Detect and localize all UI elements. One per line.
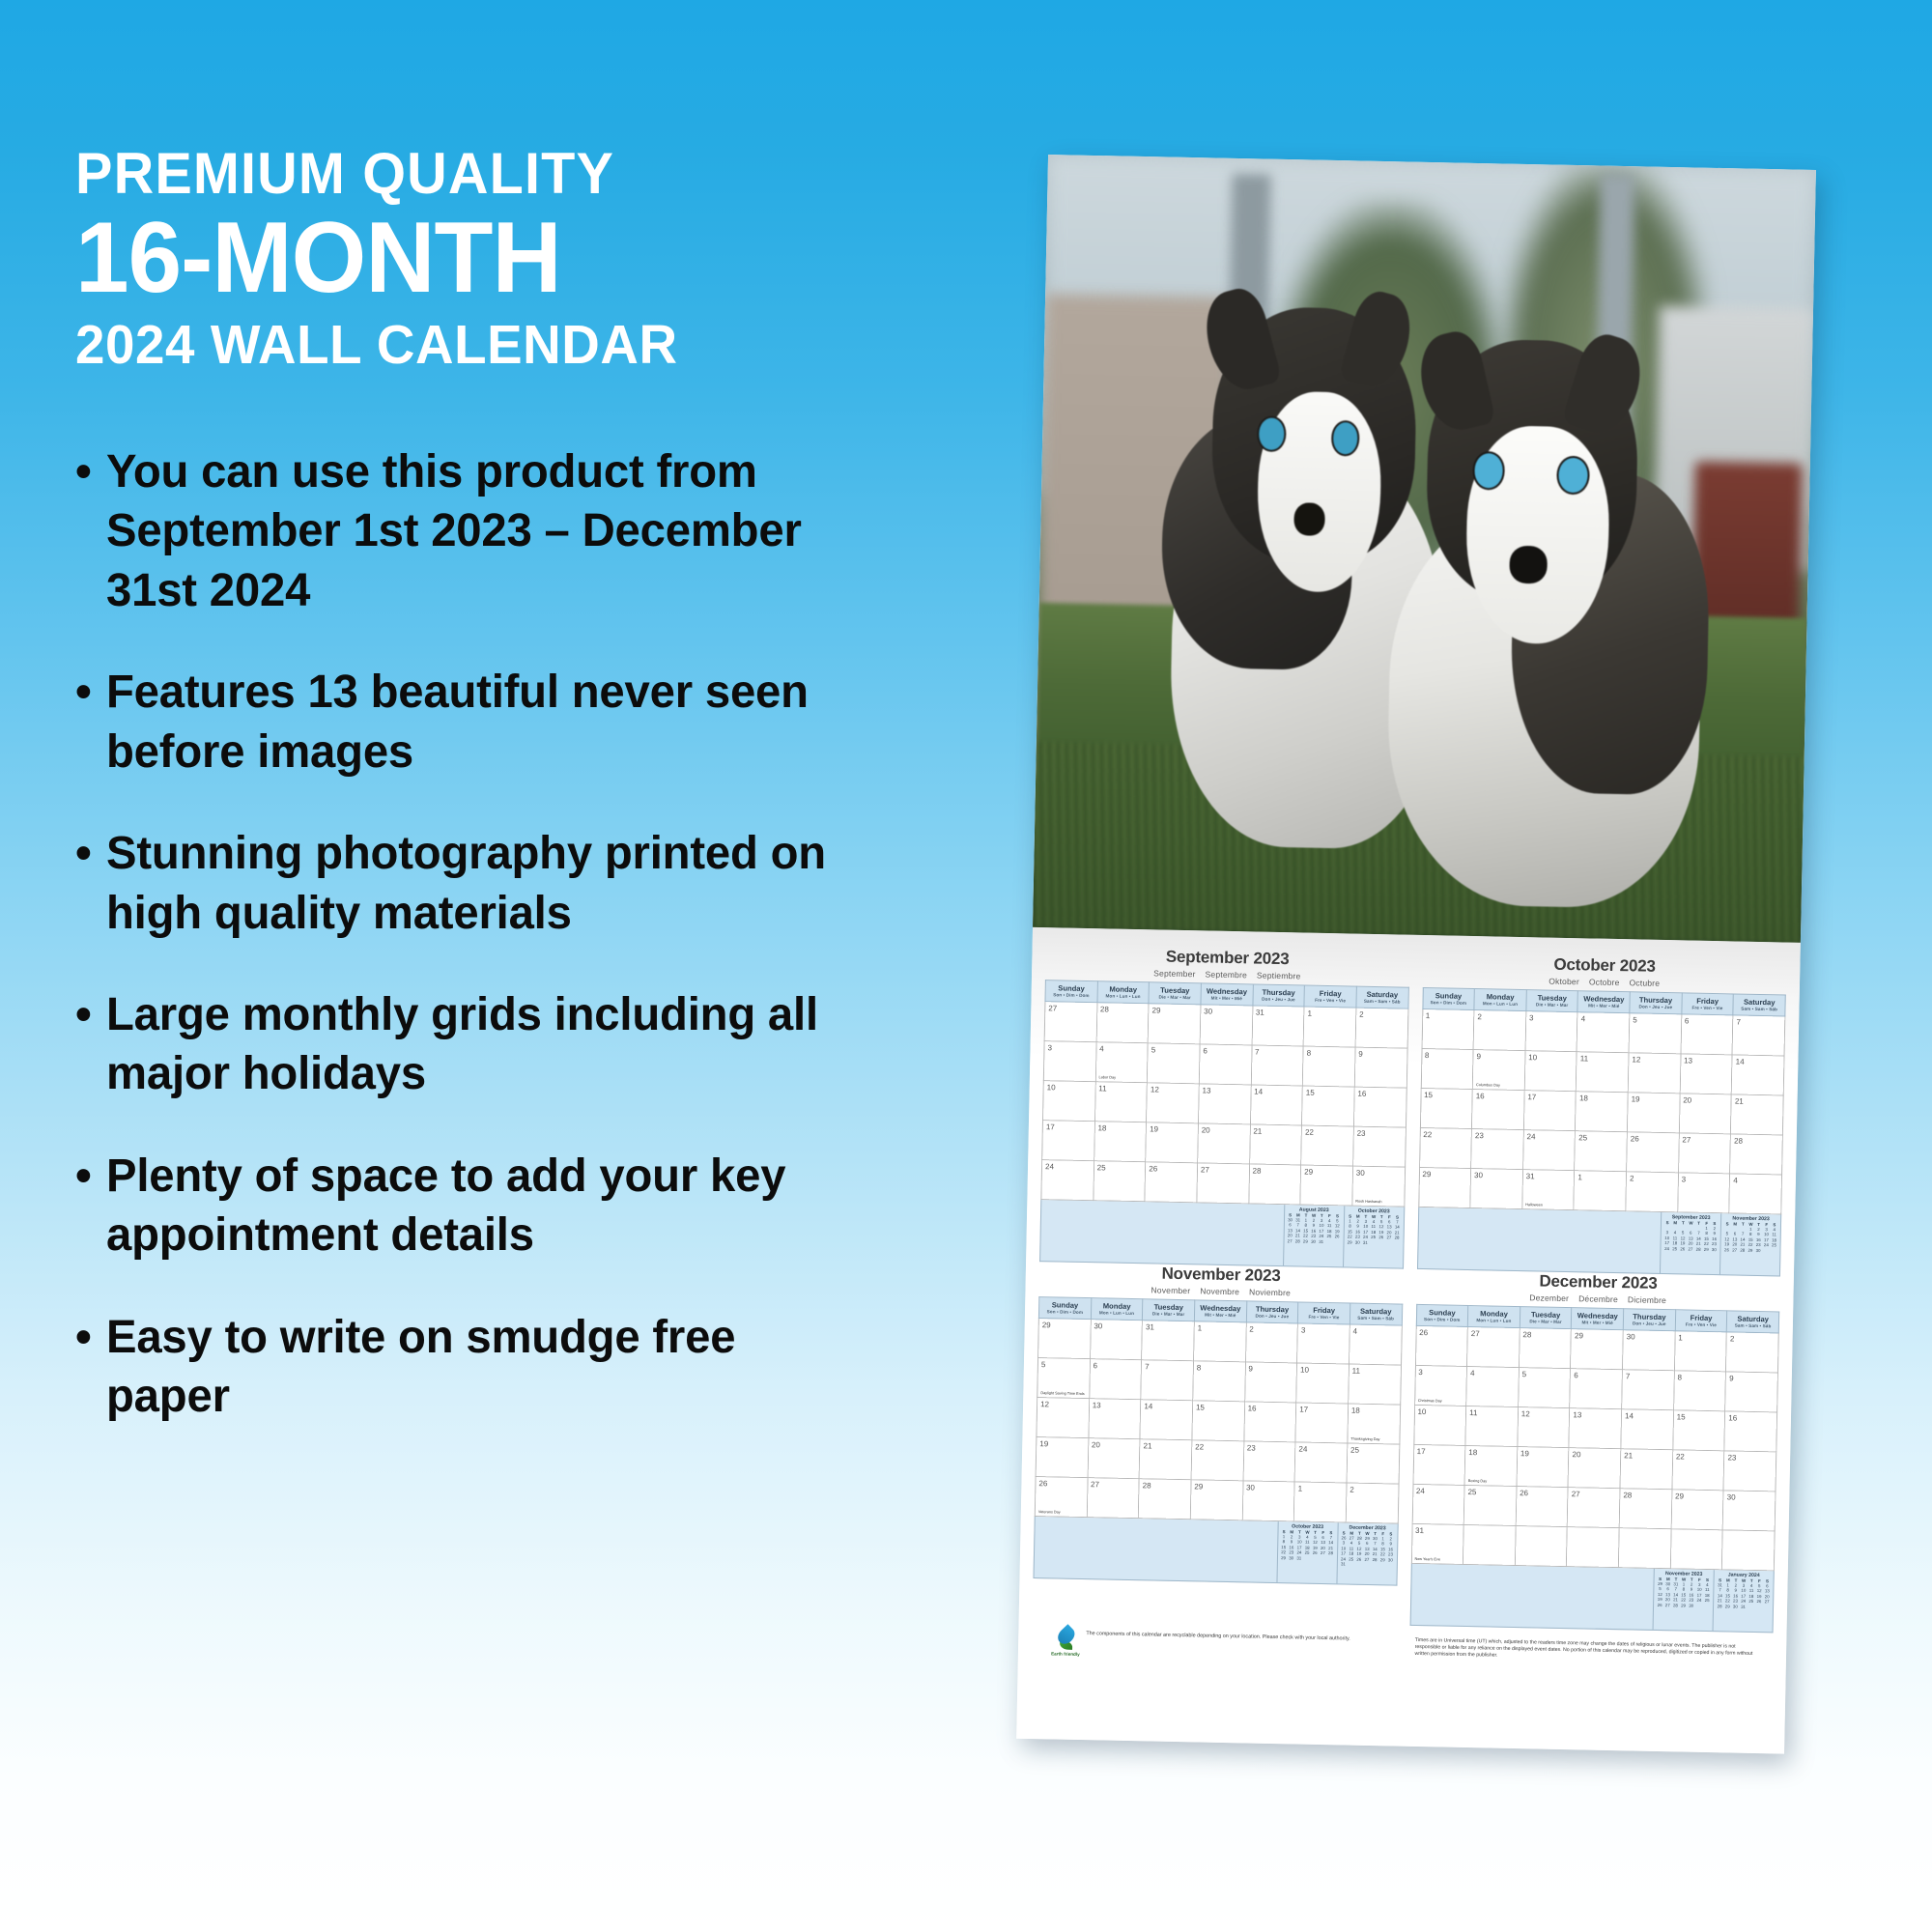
day-header-saturday: SaturdaySam • Sam • Sáb <box>1727 1311 1779 1333</box>
mini-day: 28 <box>1694 1246 1702 1252</box>
mini-day: 30 <box>1309 1238 1317 1244</box>
month-block: September 2023SeptemberSeptembreSeptiemb… <box>1039 945 1409 1268</box>
week-row: 31New Year's Eve <box>1411 1523 1775 1571</box>
mini-calendars: August 2023SMTWTFS3031123456789101112131… <box>1283 1205 1404 1267</box>
mini-day: 30 <box>1731 1604 1739 1609</box>
day-cell[interactable]: 28 <box>1519 1328 1571 1369</box>
footer-recycling-note: Earth friendly The components of this ca… <box>1045 1618 1396 1663</box>
holiday-label: New Year's Eve <box>1414 1557 1440 1562</box>
day-cell[interactable]: 24 <box>1522 1130 1575 1171</box>
day-cell[interactable]: 12 <box>1147 1083 1199 1123</box>
day-cell[interactable]: 6 <box>1570 1369 1622 1409</box>
day-cell[interactable]: 20 <box>1088 1438 1140 1479</box>
notes-bar[interactable]: August 2023SMTWTFS3031123456789101112131… <box>1039 1200 1405 1269</box>
mini-day <box>1695 1604 1703 1609</box>
day-cell[interactable]: 10 <box>1043 1081 1095 1122</box>
day-cell[interactable]: 4 <box>1729 1174 1781 1214</box>
day-cell[interactable]: 17 <box>1042 1121 1094 1161</box>
day-cell[interactable]: 18Boxing Day <box>1464 1445 1517 1486</box>
day-cell[interactable]: 14 <box>1732 1055 1784 1095</box>
day-cell[interactable]: 16 <box>1724 1411 1776 1452</box>
mini-day <box>1378 1240 1385 1246</box>
day-cell[interactable]: 27 <box>1197 1163 1249 1204</box>
day-header-tuesday: TuesdayDie • Mar • Mar <box>1526 990 1578 1012</box>
feature-item: •Features 13 beautiful never seen before… <box>75 663 877 781</box>
day-cell[interactable]: 9 <box>1244 1362 1296 1403</box>
day-cell[interactable]: 1 <box>1303 1007 1355 1047</box>
day-header-monday: MondayMon • Lun • Lun <box>1097 981 1150 1004</box>
day-cell[interactable]: 8 <box>1421 1048 1473 1089</box>
day-header-saturday: SaturdaySam • Sam • Sáb <box>1733 994 1785 1016</box>
day-cell[interactable]: 22 <box>1672 1450 1724 1491</box>
day-cell[interactable]: 18 <box>1094 1122 1146 1162</box>
feature-item: •Easy to write on smudge free paper <box>75 1308 877 1427</box>
mini-day <box>1386 1563 1394 1569</box>
day-header-tuesday: TuesdayDie • Mar • Mar <box>1520 1307 1572 1329</box>
day-cell[interactable]: 9Columbus Day <box>1472 1050 1524 1091</box>
mini-day: 28 <box>1716 1604 1723 1609</box>
day-cell[interactable]: 27 <box>1087 1478 1139 1519</box>
holiday-label: Columbus Day <box>1476 1083 1500 1088</box>
mini-day: 31 <box>1318 1239 1325 1245</box>
day-cell[interactable]: 30Rosh Hashanah <box>1352 1166 1405 1207</box>
day-cell[interactable]: 1 <box>1193 1321 1245 1362</box>
week-row: 24252627282930Rosh Hashanah <box>1041 1160 1405 1207</box>
calendar-sheet: September 2023SeptemberSeptembreSeptiemb… <box>1016 155 1816 1754</box>
day-cell[interactable]: 19 <box>1036 1437 1088 1478</box>
day-header-abbr: Sam • Sam • Sáb <box>1350 1315 1402 1321</box>
day-cell[interactable]: 19 <box>1146 1122 1198 1163</box>
mini-day: 26 <box>1656 1603 1663 1608</box>
feature-item-label: You can use this product from September … <box>106 442 866 620</box>
mini-day: 28 <box>1293 1238 1301 1244</box>
month-grid: SundaySon • Dim • DomMondayMon • Lun • L… <box>1410 1304 1779 1572</box>
bullet-marker-icon: • <box>75 1147 106 1265</box>
day-cell[interactable] <box>1463 1524 1516 1565</box>
feature-item-label: Plenty of space to add your key appointm… <box>106 1147 866 1265</box>
day-cell[interactable]: 27 <box>1044 1002 1096 1042</box>
day-header-abbr: Fre • Ven • Vie <box>1298 1314 1350 1320</box>
day-cell[interactable] <box>1567 1527 1619 1568</box>
day-header-monday: MondayMon • Lun • Lun <box>1467 1305 1520 1327</box>
day-cell[interactable]: 3 <box>1677 1173 1729 1213</box>
day-header-abbr: Die • Mar • Mar <box>1143 1311 1194 1317</box>
day-cell[interactable]: 24 <box>1294 1442 1347 1483</box>
month-lang: Novembre <box>1200 1286 1239 1296</box>
day-cell[interactable]: 27 <box>1568 1488 1620 1528</box>
day-cell[interactable]: 13 <box>1680 1054 1732 1094</box>
day-header-sunday: SundaySon • Dim • Dom <box>1422 987 1474 1009</box>
notes-bar[interactable]: September 2023SMTWTFS1234567891011121314… <box>1416 1207 1781 1277</box>
day-cell[interactable]: 7 <box>1141 1360 1193 1401</box>
day-cell[interactable]: 11 <box>1465 1406 1518 1446</box>
day-cell[interactable]: 9 <box>1725 1372 1777 1412</box>
mini-day: 26 <box>1679 1246 1687 1252</box>
mini-day: 29 <box>1747 1248 1754 1254</box>
calendar-photo-husky-puppies <box>1033 155 1816 943</box>
month-lang: Décembre <box>1578 1293 1618 1304</box>
day-cell[interactable]: 25 <box>1463 1485 1516 1525</box>
day-cell[interactable]: 21 <box>1620 1449 1672 1490</box>
day-header-wednesday: WednesdayMit • Mer • Mié <box>1577 991 1630 1013</box>
month-lang: September <box>1153 968 1196 979</box>
notes-writing-area[interactable] <box>1410 1564 1654 1630</box>
day-header-thursday: ThursdayDon • Jeu • Jue <box>1246 1301 1298 1323</box>
feature-item-label: Easy to write on smudge free paper <box>106 1308 866 1427</box>
day-cell[interactable]: 30 <box>1623 1330 1675 1371</box>
day-header-monday: MondayMon • Lun • Lun <box>1474 989 1526 1011</box>
day-cell[interactable]: 27 <box>1467 1326 1520 1367</box>
eco-label: Earth friendly <box>1051 1651 1080 1657</box>
day-cell[interactable]: 25 <box>1094 1161 1146 1202</box>
day-header-abbr: Die • Mar • Mar <box>1150 994 1201 1000</box>
notes-bar[interactable]: October 2023SMTWTFS123456789101112131415… <box>1033 1517 1398 1586</box>
day-cell[interactable]: 23 <box>1471 1129 1523 1170</box>
footer-right-text: Times are in Universal time (UT) which, … <box>1414 1634 1753 1670</box>
month-grid: SundaySon • Dim • DomMondayMon • Lun • L… <box>1418 987 1786 1215</box>
mini-day: 31 <box>1361 1240 1369 1246</box>
day-cell[interactable]: 20 <box>1568 1448 1620 1489</box>
day-header-saturday: SaturdaySam • Sam • Sáb <box>1356 986 1408 1009</box>
day-header-sunday: SundaySon • Dim • Dom <box>1045 980 1097 1003</box>
day-cell[interactable]: 26 <box>1145 1162 1197 1203</box>
day-cell[interactable]: 14 <box>1621 1409 1673 1450</box>
day-header-abbr: Don • Jeu • Jue <box>1247 1313 1298 1319</box>
day-cell[interactable]: 26 <box>1516 1487 1568 1527</box>
day-header-abbr: Mon • Lun • Lun <box>1092 1310 1143 1316</box>
day-cell[interactable]: 16 <box>1353 1087 1406 1127</box>
day-cell[interactable]: 15 <box>1192 1401 1244 1441</box>
month-lang: November <box>1151 1285 1190 1295</box>
feature-item: •You can use this product from September… <box>75 442 877 620</box>
day-cell[interactable]: 11 <box>1349 1364 1401 1405</box>
mini-day: 27 <box>1731 1247 1739 1253</box>
calendar-grid-page: September 2023SeptemberSeptembreSeptiemb… <box>1016 927 1801 1754</box>
mini-day <box>1378 1562 1386 1568</box>
day-header-abbr: Son • Dim • Dom <box>1039 1309 1091 1315</box>
day-cell[interactable]: 3 <box>1525 1011 1577 1052</box>
page-title: 16-MONTH <box>75 207 845 309</box>
mini-calendars: November 2023SMTWTFS29303112345678910111… <box>1653 1569 1774 1632</box>
day-cell[interactable]: 31 <box>1252 1006 1304 1046</box>
earth-friendly-icon: Earth friendly <box>1051 1626 1081 1657</box>
day-cell[interactable]: 17 <box>1523 1091 1576 1131</box>
notes-writing-area[interactable] <box>1035 1517 1278 1582</box>
holiday-label: Thanksgiving Day <box>1350 1436 1379 1441</box>
day-cell[interactable]: 6 <box>1199 1044 1251 1085</box>
day-cell[interactable]: 28 <box>1139 1479 1191 1520</box>
mini-day: 29 <box>1301 1238 1309 1244</box>
day-cell[interactable]: 29 <box>1190 1480 1242 1520</box>
bullet-marker-icon: • <box>75 442 106 620</box>
footer-left-text: The components of this calendar are recy… <box>1086 1627 1350 1662</box>
day-cell[interactable] <box>1618 1528 1670 1569</box>
mini-calendar: December 2023SMTWTFS26272829301234567891… <box>1336 1522 1397 1584</box>
mini-day: 30 <box>1710 1247 1718 1253</box>
notes-writing-area[interactable] <box>1418 1207 1662 1273</box>
day-cell[interactable]: 29 <box>1148 1004 1200 1044</box>
day-cell[interactable]: 20 <box>1679 1094 1731 1134</box>
day-cell[interactable]: 31Halloween <box>1522 1170 1575 1210</box>
day-header-wednesday: WednesdayMit • Mer • Mié <box>1201 983 1253 1006</box>
day-cell[interactable]: 11 <box>1094 1082 1147 1122</box>
day-cell[interactable]: 29 <box>1300 1165 1352 1206</box>
day-cell[interactable]: 9 <box>1354 1047 1406 1088</box>
mini-day: 29 <box>1346 1239 1353 1245</box>
day-cell[interactable]: 3 <box>1043 1041 1095 1082</box>
day-header-wednesday: WednesdayMit • Mer • Mié <box>1194 1300 1246 1322</box>
mini-day <box>1770 1248 1777 1254</box>
mini-day: 25 <box>1671 1246 1679 1252</box>
day-cell[interactable]: 24 <box>1041 1160 1094 1201</box>
mini-day <box>1333 1239 1341 1245</box>
mini-day: 28 <box>1671 1603 1679 1608</box>
day-cell[interactable]: 7 <box>1732 1015 1784 1056</box>
day-cell[interactable]: 19 <box>1627 1093 1679 1133</box>
day-cell[interactable]: 6 <box>1089 1359 1141 1400</box>
day-cell[interactable]: 2 <box>1726 1332 1778 1373</box>
week-row: 293031Halloween1234 <box>1418 1167 1781 1214</box>
month-lang: Dezember <box>1529 1293 1569 1303</box>
day-cell[interactable]: 21 <box>1731 1094 1783 1135</box>
day-cell[interactable]: 6 <box>1681 1014 1733 1055</box>
day-cell[interactable]: 12 <box>1518 1407 1570 1448</box>
month-block: November 2023NovemberNovembreNoviembreSu… <box>1033 1262 1404 1625</box>
day-cell[interactable]: 4 <box>1466 1366 1519 1406</box>
day-cell[interactable]: 14 <box>1140 1400 1192 1440</box>
day-cell[interactable]: 23 <box>1243 1441 1295 1482</box>
notes-bar[interactable]: November 2023SMTWTFS29303112345678910111… <box>1409 1564 1775 1634</box>
day-cell[interactable]: 26 <box>1415 1325 1467 1366</box>
mini-day: 24 <box>1662 1246 1670 1252</box>
day-cell[interactable]: 29 <box>1418 1167 1470 1207</box>
day-cell[interactable]: 21 <box>1249 1124 1301 1165</box>
day-cell[interactable]: 22 <box>1419 1127 1471 1168</box>
puppy-right <box>1371 331 1720 910</box>
day-header-abbr: Mon • Lun • Lun <box>1097 993 1149 999</box>
day-header-thursday: ThursdayDon • Jeu • Jue <box>1623 1309 1675 1331</box>
day-cell[interactable]: 21 <box>1139 1439 1191 1480</box>
day-cell[interactable]: 29 <box>1571 1329 1623 1370</box>
day-cell[interactable]: 11 <box>1577 1052 1629 1093</box>
mini-day <box>1385 1240 1393 1246</box>
day-cell[interactable]: 4Labor Day <box>1095 1042 1148 1083</box>
mini-day: 31 <box>1339 1562 1347 1568</box>
day-cell[interactable]: 1 <box>1574 1171 1626 1211</box>
day-cell[interactable] <box>1722 1530 1775 1571</box>
day-header-sunday: SundaySon • Dim • Dom <box>1416 1304 1468 1326</box>
month-lang: Diciembre <box>1628 1294 1666 1305</box>
day-header-abbr: Don • Jeu • Jue <box>1253 996 1304 1002</box>
day-cell[interactable]: 7 <box>1251 1045 1303 1086</box>
day-cell[interactable]: 25 <box>1347 1443 1399 1484</box>
mini-calendars: October 2023SMTWTFS123456789101112131415… <box>1276 1521 1397 1584</box>
day-cell[interactable]: 2 <box>1245 1322 1297 1363</box>
day-cell[interactable]: 28 <box>1248 1164 1300 1205</box>
holiday-label: Rosh Hashanah <box>1355 1199 1381 1204</box>
day-cell[interactable]: 25 <box>1575 1131 1627 1172</box>
day-cell[interactable]: 10 <box>1296 1363 1349 1404</box>
day-header-abbr: Die • Mar • Mar <box>1526 1002 1577 1008</box>
day-header-thursday: ThursdayDon • Jeu • Jue <box>1253 984 1305 1007</box>
day-cell[interactable]: 30 <box>1470 1169 1522 1209</box>
day-cell[interactable]: 18 <box>1576 1092 1628 1132</box>
feature-item: •Stunning photography printed on high qu… <box>75 824 877 943</box>
day-cell[interactable]: 1 <box>1674 1331 1726 1372</box>
bullet-marker-icon: • <box>75 1308 106 1427</box>
month-lang: Septiembre <box>1257 971 1301 981</box>
day-header-abbr: Fre • Ven • Vie <box>1676 1321 1727 1327</box>
day-cell[interactable]: 26 <box>1627 1132 1679 1173</box>
day-cell[interactable]: 5 <box>1629 1013 1681 1054</box>
day-cell[interactable]: 29 <box>1038 1319 1091 1359</box>
day-cell[interactable]: 4 <box>1577 1012 1629 1053</box>
day-cell[interactable]: 22 <box>1301 1125 1353 1166</box>
day-cell[interactable]: 31New Year's Eve <box>1411 1523 1463 1564</box>
day-header-tuesday: TuesdayDie • Mar • Mar <box>1143 1299 1195 1321</box>
day-cell[interactable]: 1 <box>1293 1482 1346 1522</box>
day-header-abbr: Sam • Sam • Sáb <box>1734 1006 1785 1011</box>
day-cell[interactable]: 16 <box>1243 1402 1295 1442</box>
day-header-abbr: Sam • Sam • Sáb <box>1727 1322 1778 1328</box>
mini-calendar: October 2023SMTWTFS123456789101112131415… <box>1343 1206 1404 1267</box>
day-cell[interactable]: 30 <box>1090 1320 1142 1360</box>
day-cell[interactable]: 10 <box>1524 1051 1577 1092</box>
day-cell[interactable]: 17 <box>1295 1403 1348 1443</box>
day-cell[interactable]: 29 <box>1671 1490 1723 1530</box>
month-grid: SundaySon • Dim • DomMondayMon • Lun • L… <box>1035 1296 1403 1524</box>
day-cell[interactable]: 15 <box>1673 1410 1725 1451</box>
day-cell[interactable]: 18Thanksgiving Day <box>1348 1404 1400 1444</box>
day-header-abbr: Mon • Lun • Lun <box>1475 1001 1526 1007</box>
mini-day <box>1763 1605 1771 1610</box>
day-cell[interactable]: 20 <box>1198 1123 1250 1164</box>
day-cell[interactable]: 30 <box>1722 1491 1775 1531</box>
day-header-saturday: SaturdaySam • Sam • Sáb <box>1350 1303 1402 1325</box>
day-cell[interactable]: 5 <box>1148 1043 1200 1084</box>
mini-day: 29 <box>1679 1603 1687 1608</box>
day-cell[interactable]: 12 <box>1628 1053 1680 1094</box>
kicker-text: PREMIUM QUALITY <box>75 145 845 203</box>
day-cell[interactable]: 2 <box>1346 1483 1398 1523</box>
mini-day: 27 <box>1286 1238 1293 1244</box>
notes-writing-area[interactable] <box>1040 1200 1284 1265</box>
mini-day: 31 <box>1295 1555 1303 1561</box>
mini-day <box>1363 1562 1371 1568</box>
day-cell[interactable]: 30 <box>1242 1481 1294 1521</box>
day-cell[interactable] <box>1670 1529 1722 1570</box>
day-cell[interactable]: 7 <box>1622 1370 1674 1410</box>
day-cell[interactable]: 15 <box>1420 1088 1472 1128</box>
month-lang: Octubre <box>1629 978 1660 988</box>
day-cell[interactable]: 13 <box>1198 1084 1250 1124</box>
day-header-thursday: ThursdayDon • Jeu • Jue <box>1630 992 1682 1014</box>
day-cell[interactable]: 14 <box>1250 1085 1302 1125</box>
day-cell[interactable]: 2 <box>1626 1172 1678 1212</box>
day-cell[interactable]: 3Christmas Day <box>1414 1365 1466 1406</box>
page-subtitle: 2024 WALL CALENDAR <box>75 317 845 375</box>
day-cell[interactable]: 22 <box>1191 1440 1243 1481</box>
day-cell[interactable]: 26Veterans Day <box>1035 1477 1087 1518</box>
mini-day: 30 <box>1754 1248 1762 1254</box>
day-cell[interactable]: 16 <box>1472 1090 1524 1130</box>
mini-day: 29 <box>1279 1555 1287 1561</box>
day-cell[interactable]: 19 <box>1517 1447 1569 1488</box>
mini-calendar: November 2023SMTWTFS12345678910111213141… <box>1719 1213 1780 1275</box>
day-cell[interactable]: 17 <box>1413 1444 1465 1485</box>
mini-day <box>1326 1556 1334 1562</box>
month-lang: Noviembre <box>1249 1287 1291 1297</box>
mini-day <box>1311 1556 1319 1562</box>
day-cell[interactable]: 12 <box>1037 1398 1089 1438</box>
day-cell[interactable]: 2 <box>1473 1010 1525 1051</box>
day-header-tuesday: TuesdayDie • Mar • Mar <box>1149 982 1201 1005</box>
day-cell[interactable]: 2 <box>1355 1008 1407 1048</box>
mini-calendar: October 2023SMTWTFS123456789101112131415… <box>1276 1521 1337 1583</box>
day-cell[interactable]: 31 <box>1142 1321 1194 1361</box>
mini-day: 31 <box>1739 1604 1747 1609</box>
day-header-abbr: Son • Dim • Dom <box>1046 992 1097 998</box>
day-cell[interactable]: 8 <box>1193 1361 1245 1402</box>
mini-day <box>1325 1239 1333 1245</box>
mini-calendar: November 2023SMTWTFS29303112345678910111… <box>1653 1569 1714 1631</box>
day-cell[interactable]: 30 <box>1200 1005 1252 1045</box>
mini-day: 26 <box>1722 1247 1730 1253</box>
mini-day <box>1319 1556 1326 1562</box>
day-cell[interactable]: 8 <box>1673 1371 1725 1411</box>
day-header-abbr: Mon • Lun • Lun <box>1468 1318 1520 1323</box>
day-cell[interactable]: 4 <box>1349 1324 1401 1365</box>
month-block: December 2023DezemberDécembreDiciembreSu… <box>1409 1269 1780 1633</box>
day-cell[interactable]: 1 <box>1422 1009 1474 1049</box>
mini-day: 28 <box>1739 1247 1747 1253</box>
mini-calendars: September 2023SMTWTFS1234567891011121314… <box>1660 1212 1780 1275</box>
feature-item: •Large monthly grids including all major… <box>75 985 877 1104</box>
day-cell[interactable]: 28 <box>1619 1489 1671 1529</box>
day-cell[interactable]: 27 <box>1678 1133 1730 1174</box>
mini-day: 30 <box>1288 1555 1295 1561</box>
feature-list: •You can use this product from September… <box>75 442 877 1427</box>
mini-day <box>1703 1604 1711 1609</box>
holiday-label: Halloween <box>1525 1203 1543 1207</box>
day-cell[interactable]: 24 <box>1412 1484 1464 1524</box>
day-cell[interactable]: 15 <box>1302 1086 1354 1126</box>
day-header-sunday: SundaySon • Dim • Dom <box>1038 1297 1091 1320</box>
day-cell[interactable]: 10 <box>1413 1405 1465 1445</box>
day-cell[interactable]: 8 <box>1302 1046 1354 1087</box>
mini-calendar: January 2024SMTWTFS311234567891011121314… <box>1713 1570 1774 1632</box>
day-cell[interactable]: 28 <box>1096 1003 1149 1043</box>
month-lang: Oktober <box>1548 977 1579 987</box>
footer-legal-note: Times are in Universal time (UT) which, … <box>1408 1626 1759 1671</box>
mini-day: 29 <box>1723 1604 1731 1609</box>
day-header-friday: FridayFre • Ven • Vie <box>1675 1310 1727 1332</box>
day-cell[interactable]: 23 <box>1723 1451 1776 1492</box>
day-cell[interactable]: 13 <box>1569 1408 1621 1449</box>
day-cell[interactable]: 13 <box>1089 1399 1141 1439</box>
day-cell[interactable]: 5Daylight Saving Time Ends <box>1037 1358 1090 1399</box>
day-cell[interactable] <box>1515 1526 1567 1567</box>
month-grid: SundaySon • Dim • DomMondayMon • Lun • L… <box>1040 980 1408 1207</box>
holiday-label: Christmas Day <box>1418 1399 1442 1404</box>
day-cell[interactable]: 5 <box>1518 1368 1570 1408</box>
day-header-abbr: Don • Jeu • Jue <box>1631 1004 1682 1009</box>
mini-day <box>1303 1555 1311 1561</box>
day-cell[interactable]: 23 <box>1352 1126 1405 1167</box>
day-header-friday: FridayFre • Ven • Vie <box>1682 993 1734 1015</box>
day-cell[interactable]: 28 <box>1730 1134 1782 1175</box>
day-cell[interactable]: 3 <box>1297 1323 1350 1364</box>
